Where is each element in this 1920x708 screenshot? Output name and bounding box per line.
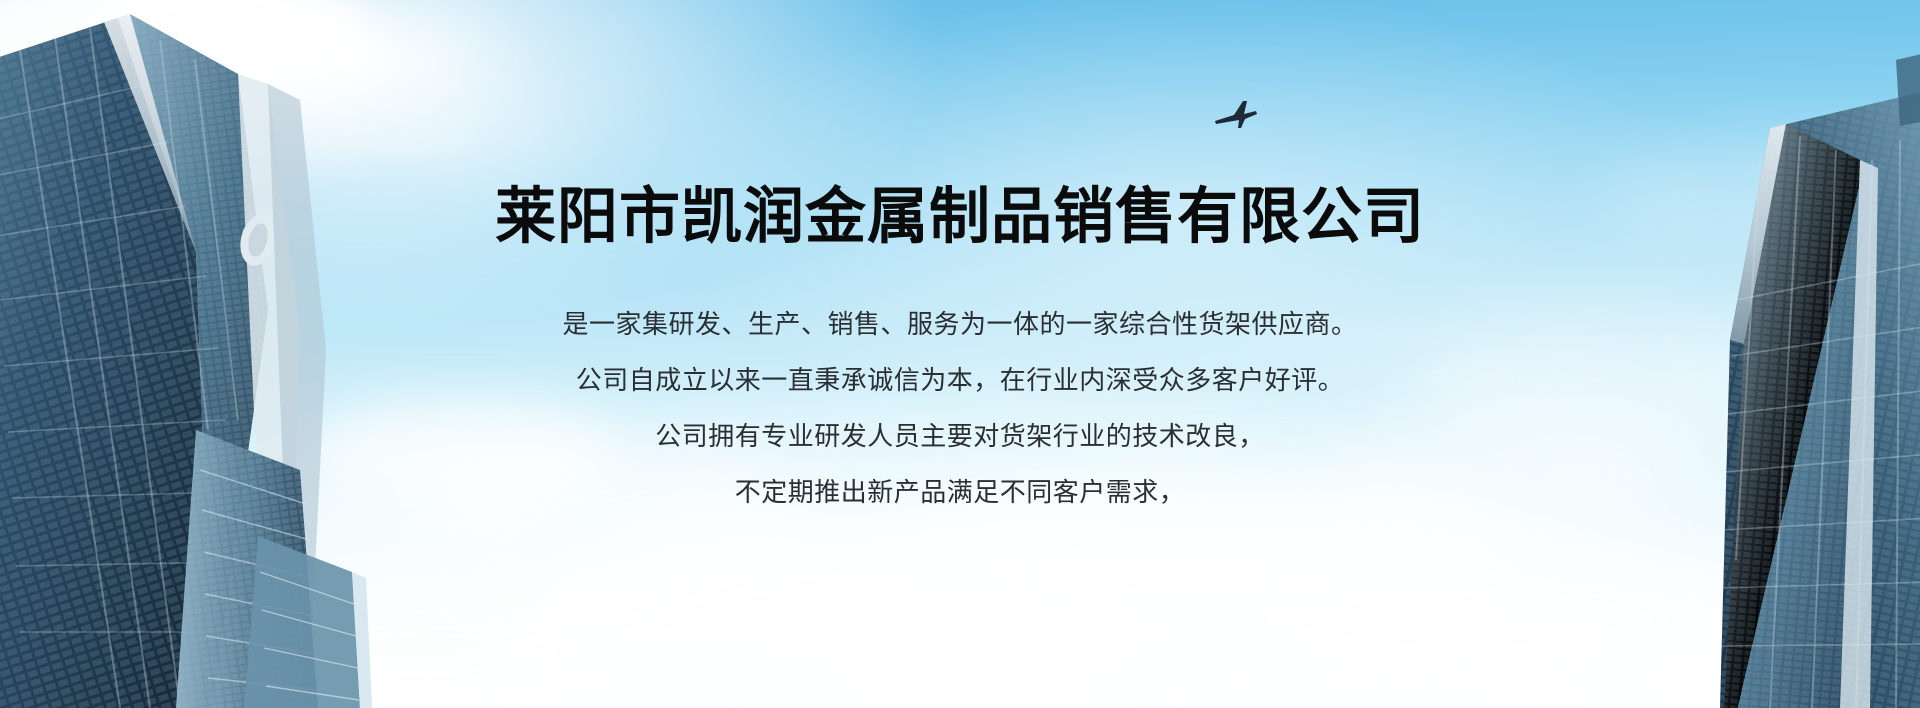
company-title: 莱阳市凯润金属制品销售有限公司 bbox=[0, 181, 1920, 251]
company-hero-banner: 莱阳市凯润金属制品销售有限公司 是一家集研发、生产、销售、服务为一体的一家综合性… bbox=[0, 0, 1920, 708]
tagline-line-4: 不定期推出新产品满足不同客户需求， bbox=[0, 464, 1920, 520]
tagline-line-1: 是一家集研发、生产、销售、服务为一体的一家综合性货架供应商。 bbox=[0, 296, 1920, 352]
tagline-line-2: 公司自成立以来一直秉承诚信为本，在行业内深受众多客户好评。 bbox=[0, 352, 1920, 408]
company-tagline: 是一家集研发、生产、销售、服务为一体的一家综合性货架供应商。 公司自成立以来一直… bbox=[0, 296, 1920, 520]
tagline-line-3: 公司拥有专业研发人员主要对货架行业的技术改良， bbox=[0, 408, 1920, 464]
banner-content: 莱阳市凯润金属制品销售有限公司 是一家集研发、生产、销售、服务为一体的一家综合性… bbox=[0, 0, 1920, 708]
